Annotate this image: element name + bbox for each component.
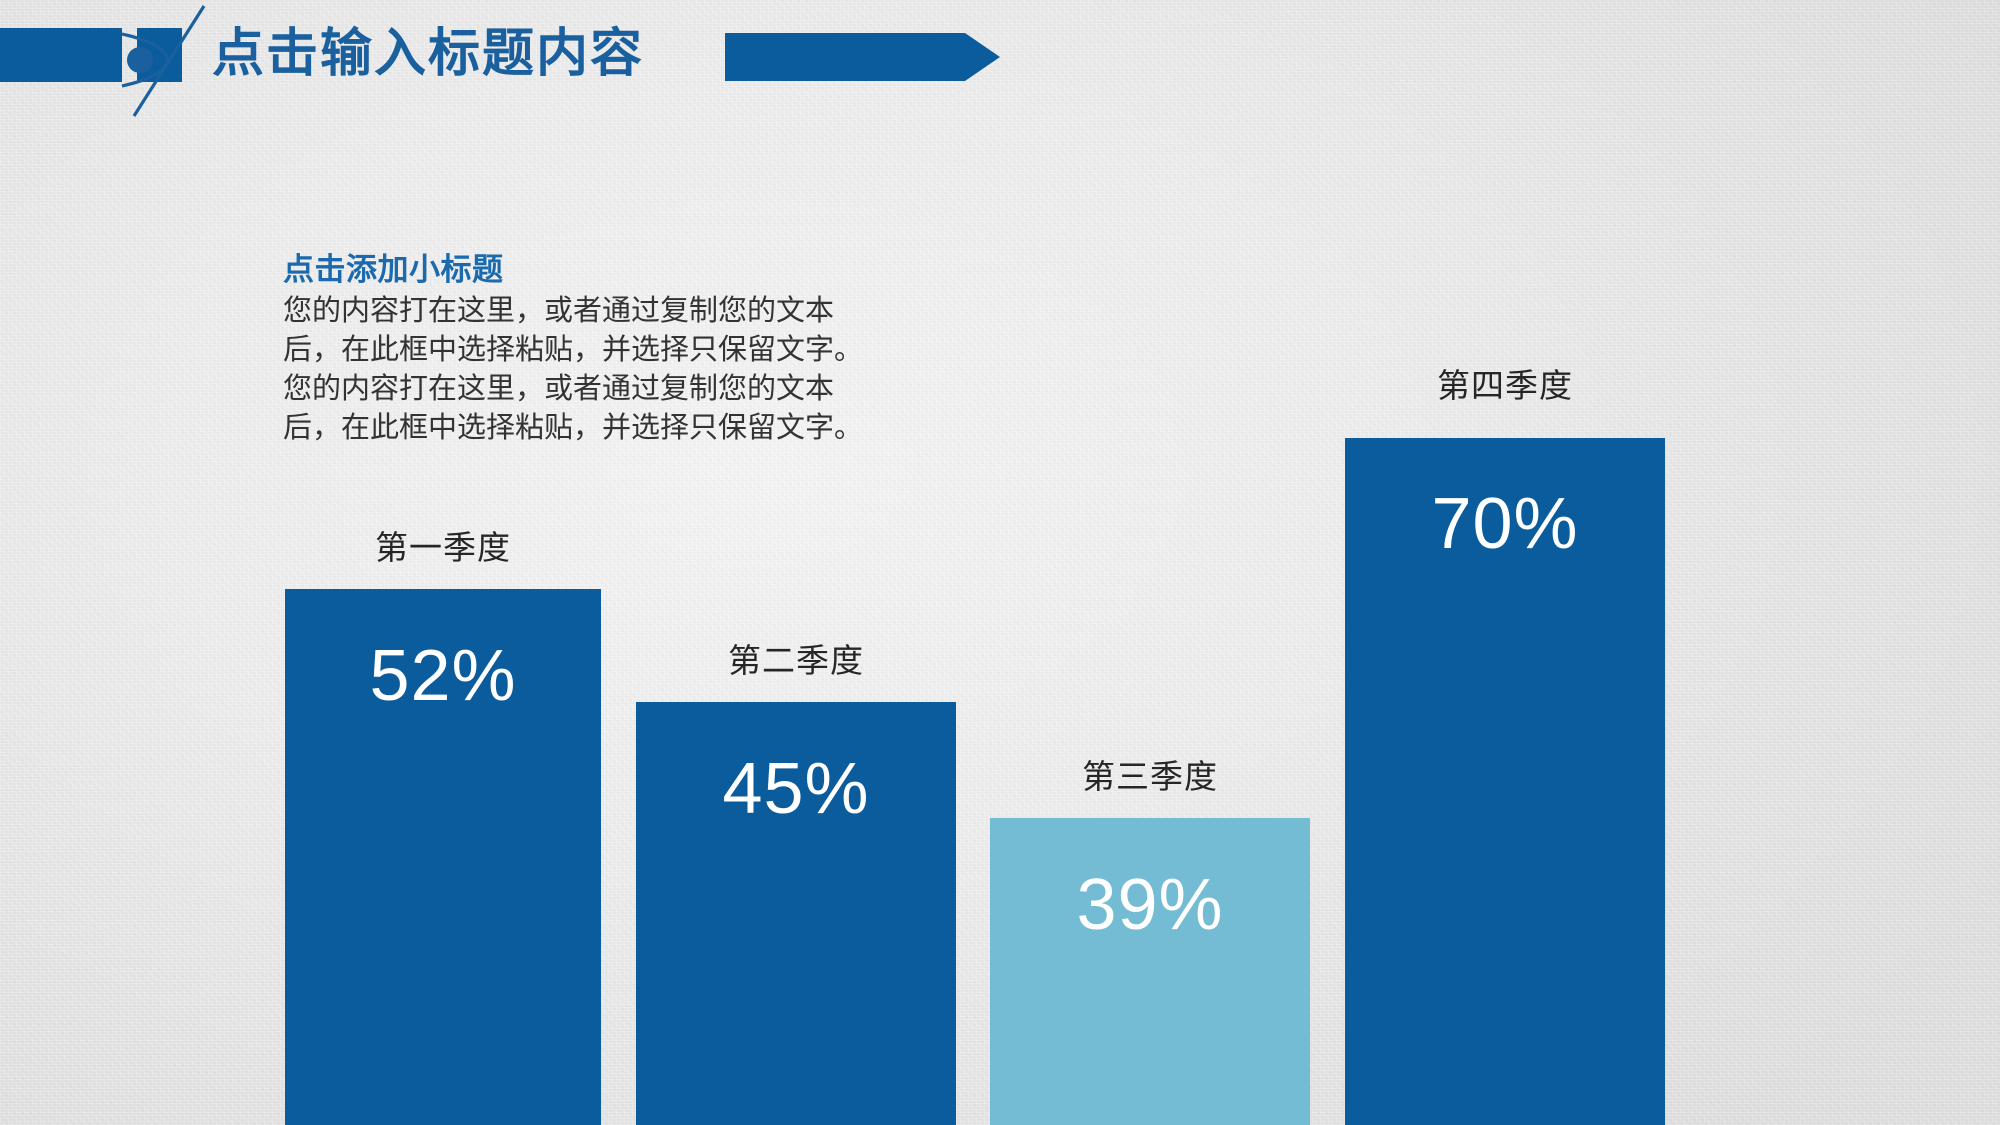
bar-value-label: 39%	[990, 865, 1310, 945]
bar-category-label: 第四季度	[1345, 366, 1665, 406]
bar-group-1: 第一季度 52%	[285, 0, 601, 1125]
slide-canvas: 点击输入标题内容 点击添加小标题 您的内容打在这里，或者通过复制您的文本 后，在…	[0, 0, 2000, 1125]
bar-value-label: 70%	[1345, 484, 1665, 564]
bar-value-label: 52%	[285, 636, 601, 716]
bar-category-label: 第一季度	[285, 528, 601, 568]
bar-chart: 第一季度 52% 第二季度 45% 第三季度 39% 第四季度 70%	[0, 0, 2000, 1125]
bar-group-2: 第二季度 45%	[636, 0, 956, 1125]
bar-value-label: 45%	[636, 749, 956, 829]
bar-group-4: 第四季度 70%	[1345, 0, 1665, 1125]
bar-category-label: 第三季度	[990, 757, 1310, 797]
bar-group-3: 第三季度 39%	[990, 0, 1310, 1125]
bar-category-label: 第二季度	[636, 641, 956, 681]
